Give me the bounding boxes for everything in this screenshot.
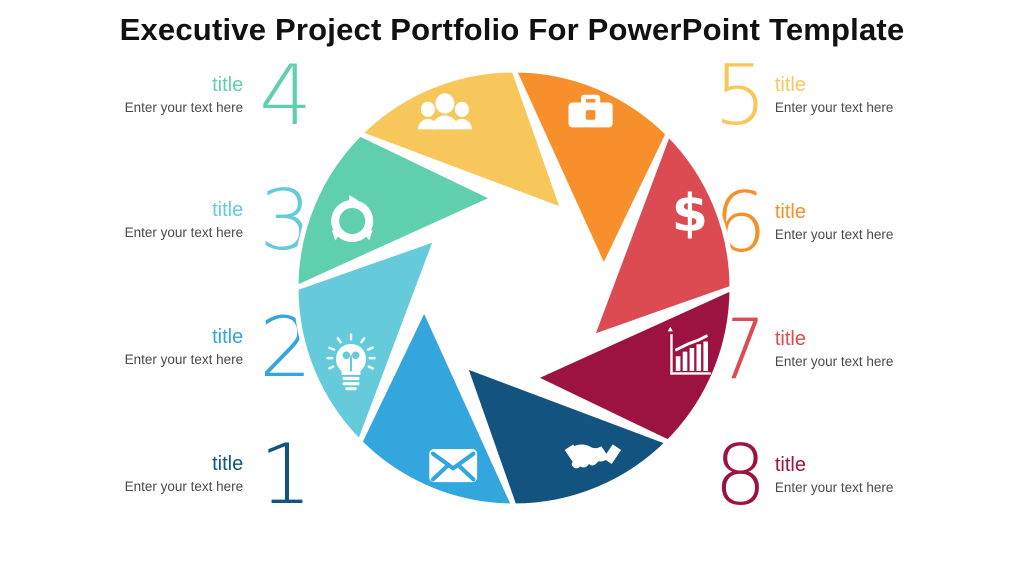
callout-body: Enter your text here (775, 100, 894, 116)
callout-title: title (212, 327, 243, 348)
callout-item-6[interactable]: 6 title Enter your text here (714, 175, 984, 271)
svg-text:$: $ (672, 184, 708, 244)
callout-text-group: title Enter your text here (125, 327, 246, 368)
callout-body: Enter your text here (125, 100, 244, 116)
aperture-pinwheel-diagram: $ (288, 62, 740, 514)
callout-text-group: title Enter your text here (125, 75, 246, 116)
callout-title: title (775, 455, 806, 476)
dollar-sign-icon: $ (672, 184, 708, 244)
pinwheel-blades (296, 70, 732, 506)
callout-item-5[interactable]: 5 title Enter your text here (714, 48, 984, 144)
callout-text-group: title Enter your text here (775, 455, 894, 496)
slide-canvas: Executive Project Portfolio For PowerPoi… (0, 0, 1024, 576)
callout-title: title (212, 75, 243, 96)
page-title: Executive Project Portfolio For PowerPoi… (0, 12, 1024, 48)
callout-body: Enter your text here (775, 227, 894, 243)
callout-item-3[interactable]: title Enter your text here 3 (40, 173, 310, 269)
callout-title: title (775, 329, 806, 350)
callout-item-7[interactable]: 7 title Enter your text here (714, 302, 984, 398)
callout-text-group: title Enter your text here (125, 454, 246, 495)
callout-body: Enter your text here (125, 352, 244, 368)
callout-body: Enter your text here (775, 354, 894, 370)
callout-item-1[interactable]: title Enter your text here 1 (40, 427, 310, 523)
callout-body: Enter your text here (125, 225, 244, 241)
callout-text-group: title Enter your text here (775, 75, 894, 116)
callout-body: Enter your text here (125, 479, 244, 495)
envelope-icon (429, 449, 477, 482)
callout-title: title (775, 202, 806, 223)
callout-text-group: title Enter your text here (775, 202, 894, 243)
callout-title: title (212, 200, 243, 221)
callout-title: title (775, 75, 806, 96)
callout-text-group: title Enter your text here (775, 329, 894, 370)
callout-text-group: title Enter your text here (125, 200, 246, 241)
callout-title: title (212, 454, 243, 475)
callout-item-8[interactable]: 8 title Enter your text here (714, 428, 984, 524)
callout-body: Enter your text here (775, 480, 894, 496)
callout-item-2[interactable]: title Enter your text here 2 (40, 300, 310, 396)
callout-item-4[interactable]: title Enter your text here 4 (40, 48, 310, 144)
